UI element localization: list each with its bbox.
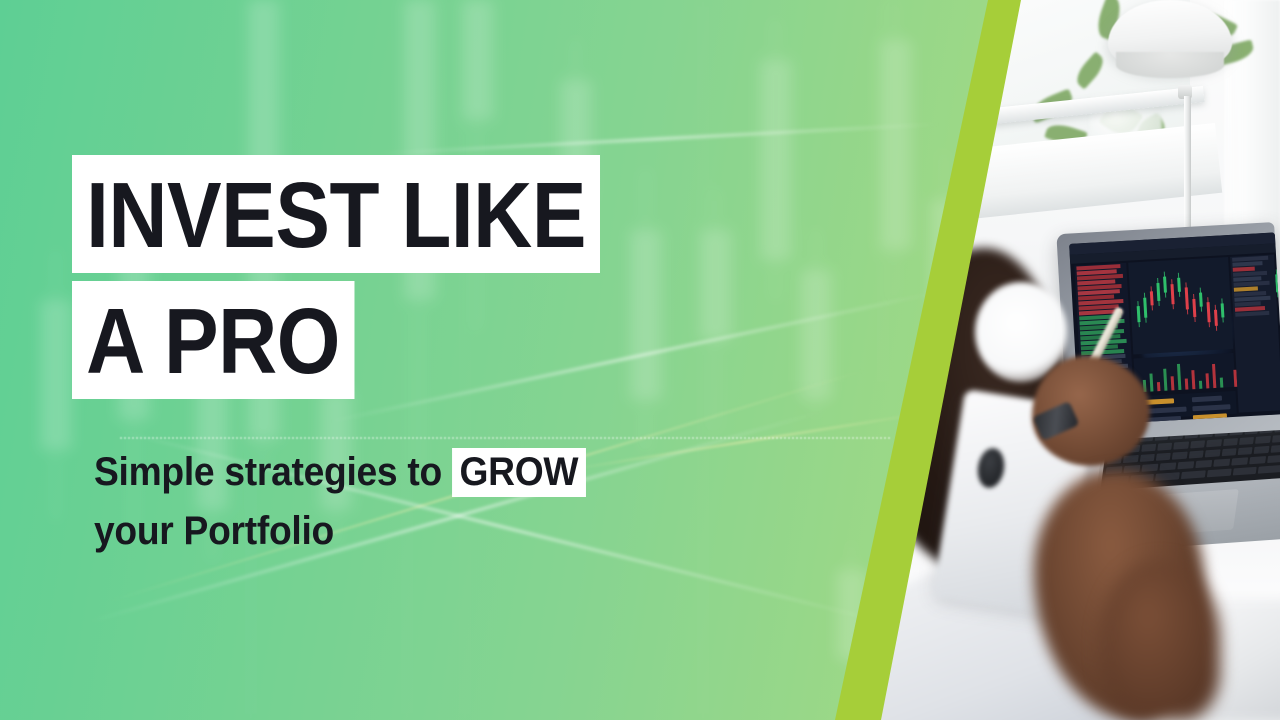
subtitle: Simple strategies to GROW your Portfolio <box>94 443 586 561</box>
poster-canvas: INVEST LIKE A PRO Simple strategies to G… <box>0 0 1280 720</box>
subtitle-line-2: your Portfolio <box>94 502 586 561</box>
page-title: INVEST LIKE A PRO <box>72 155 672 399</box>
photo-desk-lamp-inner <box>1116 52 1224 78</box>
headline-line-1: INVEST LIKE <box>72 155 600 273</box>
terminal-side-panel <box>1230 254 1280 412</box>
photo-desk-lamp-stem <box>1184 96 1191 246</box>
terminal-lower-panel <box>1136 391 1237 420</box>
chart-dotted-horizontal-guide <box>120 437 890 439</box>
terminal-candlestick-chart <box>1128 257 1233 354</box>
headline-line-2: A PRO <box>72 281 354 399</box>
subtitle-line-1: Simple strategies to GROW <box>94 443 586 502</box>
terminal-volume-histogram <box>1134 353 1236 393</box>
photo-foreground-hand-fingers <box>1100 560 1220 720</box>
subtitle-text-before-highlight: Simple strategies to <box>94 450 442 494</box>
subtitle-highlight-grow: GROW <box>452 448 586 497</box>
